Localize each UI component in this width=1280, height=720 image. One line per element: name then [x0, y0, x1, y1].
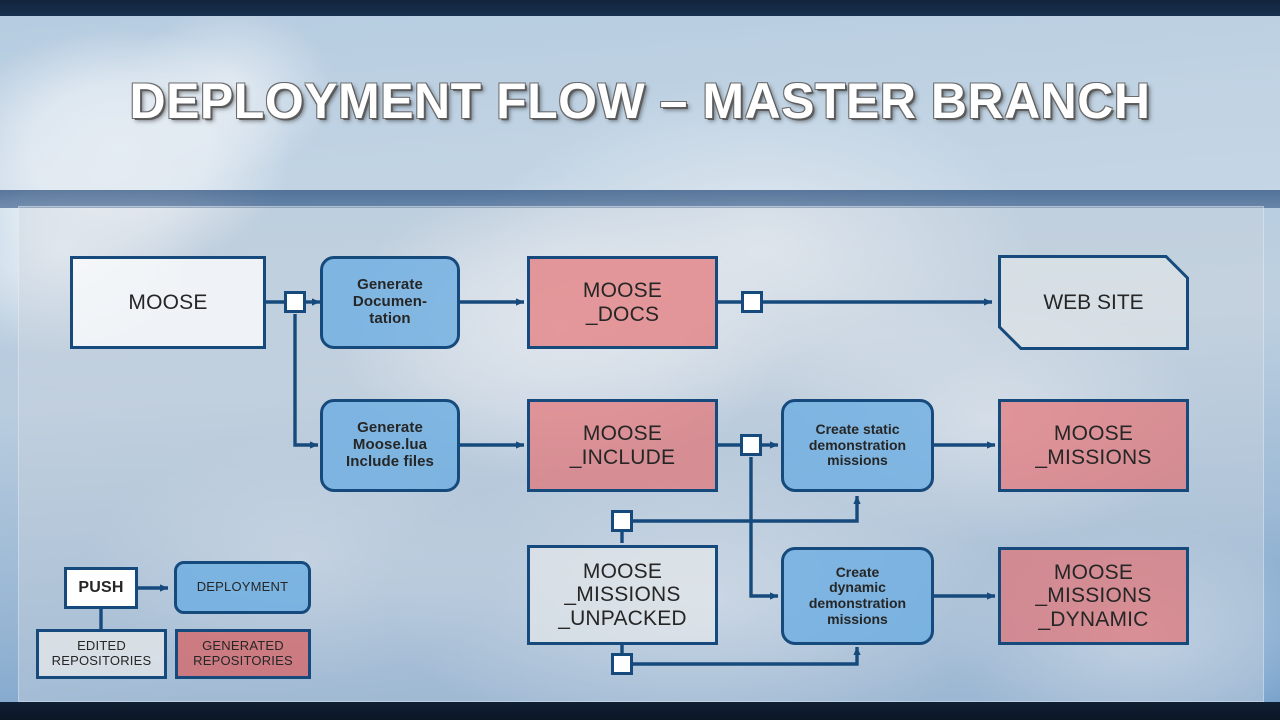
- node-create-static-label: Create static demonstration missions: [809, 422, 906, 469]
- node-moose-missions-dynamic-label: MOOSE _MISSIONS _DYNAMIC: [1035, 561, 1151, 632]
- node-create-dynamic[interactable]: Create dynamic demonstration missions: [781, 547, 934, 645]
- node-moose-docs[interactable]: MOOSE _DOCS: [527, 256, 718, 349]
- legend-push-label: PUSH: [78, 579, 123, 597]
- legend-edited-repositories-label: EDITED REPOSITORIES: [52, 639, 152, 669]
- slide-canvas: DEPLOYMENT FLOW – MASTER BRANCH: [0, 0, 1280, 720]
- node-generate-documentation-label: Generate Documen- tation: [353, 277, 427, 327]
- junction-node-unpacked-dynamic[interactable]: [611, 653, 633, 675]
- legend-deployment[interactable]: DEPLOYMENT: [174, 561, 311, 614]
- legend-edited-repositories[interactable]: EDITED REPOSITORIES: [36, 629, 167, 679]
- wire-junction-to-create-dynamic-bottom: [633, 647, 857, 664]
- node-moose-missions-unpacked-label: MOOSE _MISSIONS _UNPACKED: [558, 560, 687, 631]
- junction-node-moose-split[interactable]: [284, 291, 306, 313]
- node-moose-missions-unpacked[interactable]: MOOSE _MISSIONS _UNPACKED: [527, 545, 718, 645]
- node-moose-missions[interactable]: MOOSE _MISSIONS: [998, 399, 1189, 492]
- legend-generated-repositories-label: GENERATED REPOSITORIES: [193, 639, 293, 669]
- node-generate-include-label: Generate Moose.lua Include files: [346, 420, 434, 470]
- node-moose-include[interactable]: MOOSE _INCLUDE: [527, 399, 718, 492]
- node-generate-documentation[interactable]: Generate Documen- tation: [320, 256, 460, 349]
- node-moose-missions-label: MOOSE _MISSIONS: [1035, 422, 1151, 469]
- node-generate-include[interactable]: Generate Moose.lua Include files: [320, 399, 460, 492]
- node-moose-missions-dynamic[interactable]: MOOSE _MISSIONS _DYNAMIC: [998, 547, 1189, 645]
- legend-generated-repositories[interactable]: GENERATED REPOSITORIES: [175, 629, 311, 679]
- legend-deployment-label: DEPLOYMENT: [197, 580, 289, 595]
- node-moose-label: MOOSE: [128, 291, 207, 315]
- junction-node-unpacked-static[interactable]: [611, 510, 633, 532]
- node-moose-include-label: MOOSE _INCLUDE: [570, 422, 675, 469]
- junction-node-docs-to-website[interactable]: [741, 291, 763, 313]
- node-moose[interactable]: MOOSE: [70, 256, 266, 349]
- wire-junction-to-create-static-bottom: [633, 496, 857, 521]
- legend-push[interactable]: PUSH: [64, 567, 138, 609]
- node-create-static[interactable]: Create static demonstration missions: [781, 399, 934, 492]
- node-moose-docs-label: MOOSE _DOCS: [583, 279, 662, 326]
- wire-junction-to-create-dynamic: [751, 457, 778, 596]
- junction-node-include-split[interactable]: [740, 434, 762, 456]
- node-web-site-label: WEB SITE: [998, 255, 1189, 350]
- wire-junction-to-generate-include: [295, 314, 318, 445]
- node-create-dynamic-label: Create dynamic demonstration missions: [809, 565, 906, 628]
- node-web-site[interactable]: WEB SITE: [998, 255, 1189, 350]
